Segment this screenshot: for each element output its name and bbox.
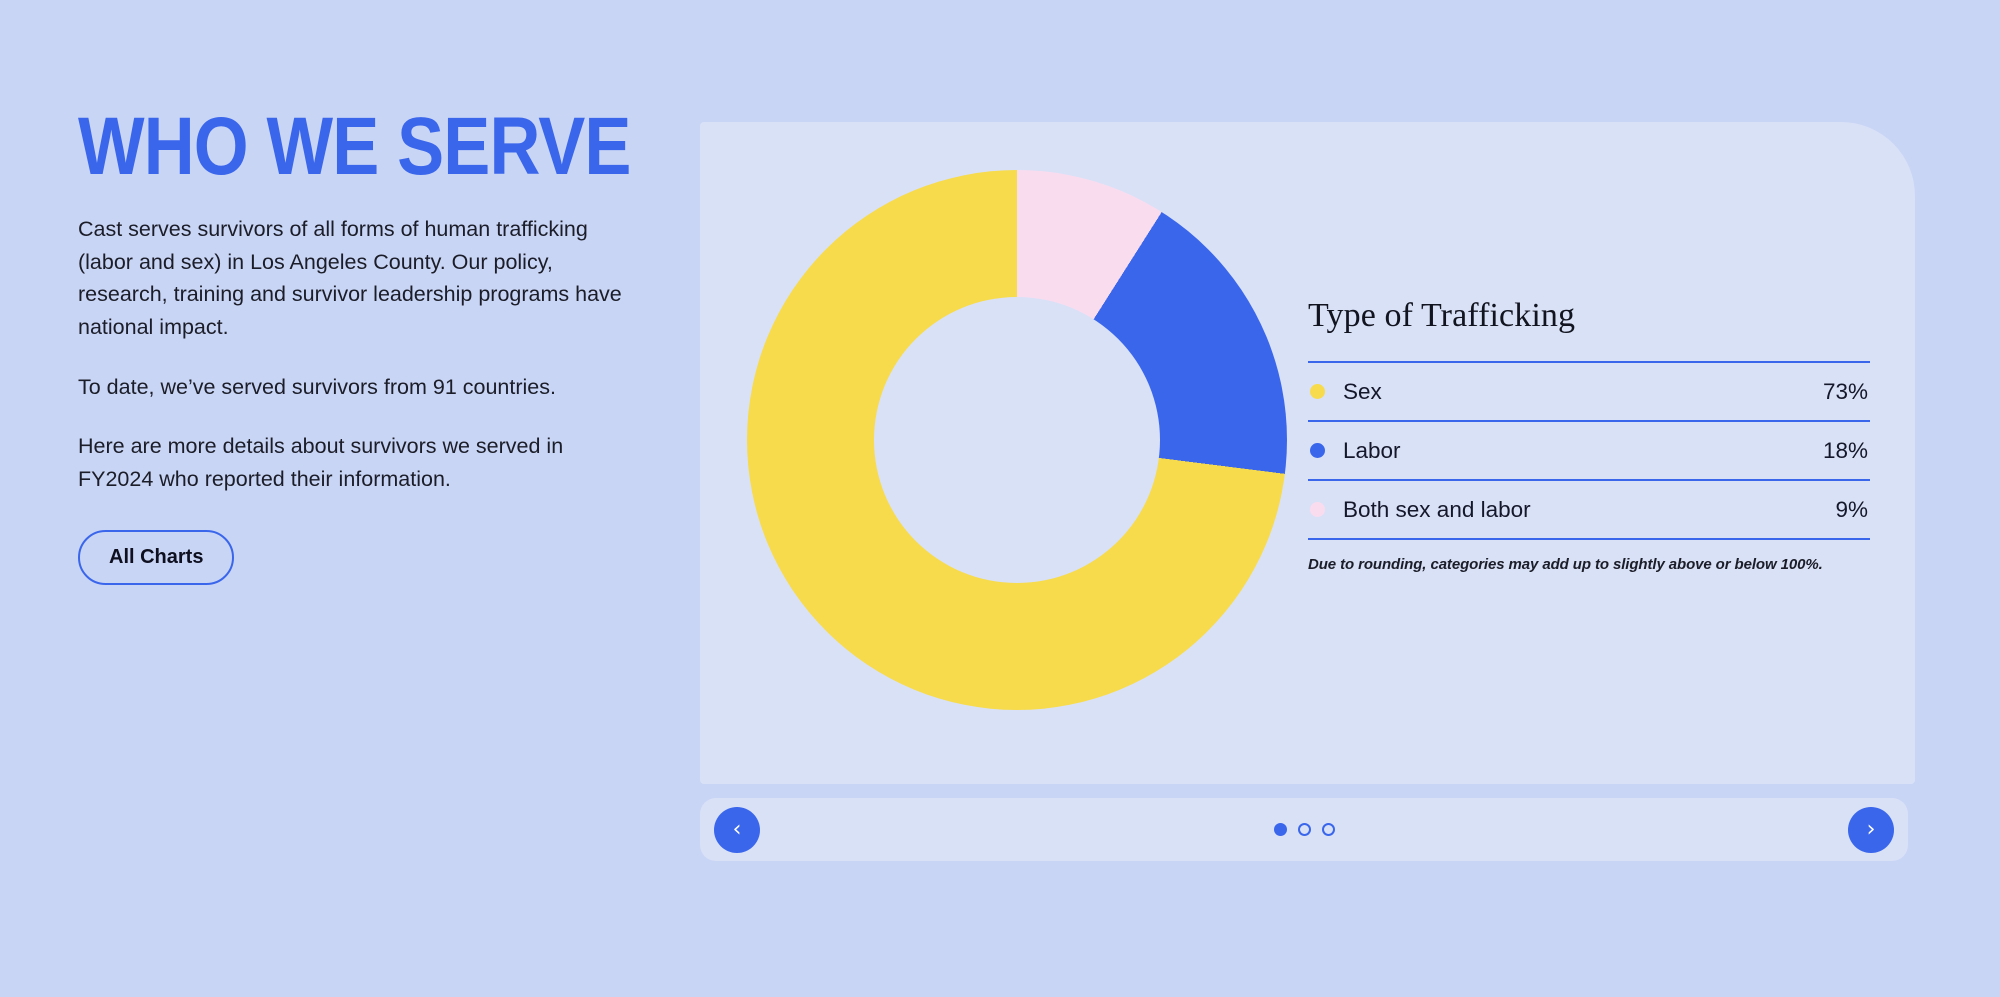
carousel-next-button[interactable]: › [1848,807,1894,853]
legend-row-labor: Labor 18% [1308,422,1870,481]
page-title: WHO WE SERVE [78,108,594,185]
chevron-left-icon: ‹ [733,819,742,841]
legend-table: Sex 73% Labor 18% Both sex and labor 9% [1308,361,1870,540]
legend-value: 73% [1823,379,1868,405]
all-charts-button[interactable]: All Charts [78,530,234,585]
intro-paragraph-3: Here are more details about survivors we… [78,430,638,495]
carousel-prev-button[interactable]: ‹ [714,807,760,853]
intro-section: WHO WE SERVE Cast serves survivors of al… [78,108,678,585]
legend-label: Sex [1343,379,1823,405]
donut-hole [874,297,1160,583]
legend-footnote: Due to rounding, categories may add up t… [1308,556,1870,573]
legend-color-swatch-icon [1310,384,1325,399]
legend-row-sex: Sex 73% [1308,363,1870,422]
chart-legend: Type of Trafficking Sex 73% Labor 18% Bo… [1308,297,1870,573]
chevron-right-icon: › [1867,819,1876,841]
carousel-controls: ‹ › [700,798,1908,861]
legend-title: Type of Trafficking [1308,297,1870,335]
carousel-dot-1[interactable] [1274,823,1287,836]
legend-value: 9% [1835,497,1868,523]
carousel-dot-3[interactable] [1322,823,1335,836]
legend-color-swatch-icon [1310,502,1325,517]
intro-copy: Cast serves survivors of all forms of hu… [78,213,638,496]
legend-row-both-sex-and-labor: Both sex and labor 9% [1308,481,1870,540]
legend-value: 18% [1823,438,1868,464]
legend-color-swatch-icon [1310,443,1325,458]
carousel-dots [1274,823,1335,836]
donut-chart [747,170,1287,710]
intro-paragraph-1: Cast serves survivors of all forms of hu… [78,213,638,344]
legend-label: Labor [1343,438,1823,464]
intro-paragraph-2: To date, we’ve served survivors from 91 … [78,371,638,404]
carousel-dot-2[interactable] [1298,823,1311,836]
chart-card: Type of Trafficking Sex 73% Labor 18% Bo… [700,122,1915,784]
legend-label: Both sex and labor [1343,497,1835,523]
